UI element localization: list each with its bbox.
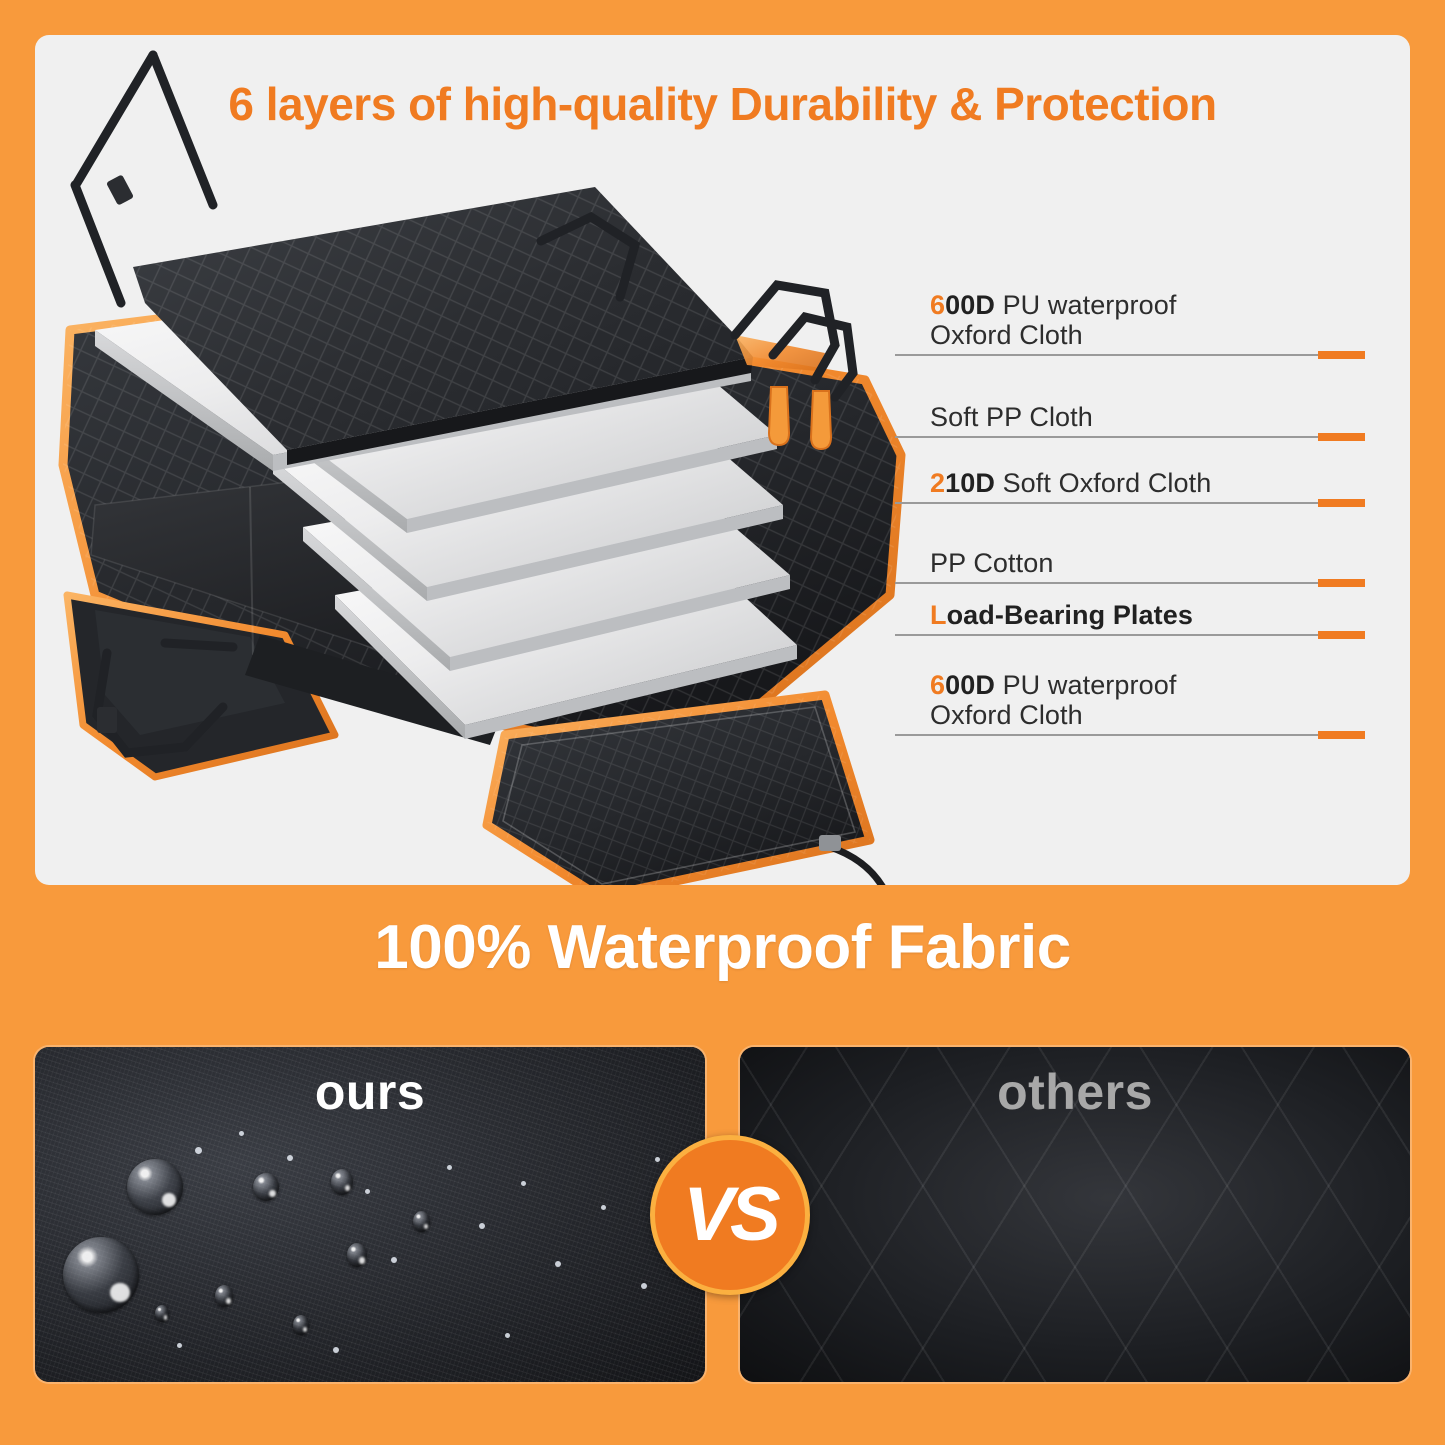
layer-label-text-4: PP Cotton: [930, 548, 1053, 578]
water-droplet: [253, 1173, 279, 1201]
layer-label-text-2: Soft PP Cloth: [930, 402, 1093, 432]
comparison-panel-ours: ours: [35, 1047, 705, 1382]
panel-caption-ours: ours: [35, 1063, 705, 1121]
water-speck: [177, 1343, 182, 1348]
water-droplet: [127, 1159, 183, 1215]
water-speck: [641, 1283, 647, 1289]
layer-label-row: 600D PU waterproof Oxford Cloth: [895, 260, 1395, 356]
vs-badge-label: VS: [655, 1140, 805, 1290]
panel-caption-others: others: [740, 1063, 1410, 1121]
water-speck: [239, 1131, 244, 1136]
hero-panel: 6 layers of high-quality Durability & Pr…: [35, 35, 1410, 885]
layer-label-row: Load-Bearing Plates: [895, 584, 1395, 636]
water-speck: [333, 1347, 339, 1353]
layer-label-row: Soft PP Cloth: [895, 356, 1395, 438]
layer-label-text-5: Load-Bearing Plates: [930, 600, 1193, 630]
water-speck: [391, 1257, 397, 1263]
water-droplet: [155, 1305, 169, 1322]
water-speck: [479, 1223, 485, 1229]
product-illustration: [35, 35, 935, 885]
leader-tip-6: [1318, 731, 1365, 739]
layer-label-row: 600D PU waterproof Oxford Cloth: [895, 636, 1395, 736]
layer-label-row: 210D Soft Oxford Cloth: [895, 438, 1395, 504]
water-droplet: [215, 1285, 233, 1307]
water-speck: [601, 1205, 606, 1210]
water-droplet: [331, 1169, 353, 1195]
water-droplet: [347, 1243, 367, 1267]
product-exploded-view-svg: [35, 35, 935, 885]
water-speck: [365, 1189, 370, 1194]
water-speck: [447, 1165, 452, 1170]
water-droplet: [63, 1237, 139, 1313]
waterproof-headline: 100% Waterproof Fabric: [0, 912, 1445, 983]
water-speck: [555, 1261, 561, 1267]
layer-label-text-3: 210D Soft Oxford Cloth: [930, 468, 1211, 498]
water-droplet: [293, 1315, 309, 1335]
layer-label-text-6: 600D PU waterproof Oxford Cloth: [930, 670, 1176, 730]
water-speck: [505, 1333, 510, 1338]
vs-badge: VS: [650, 1135, 810, 1295]
water-speck: [521, 1181, 526, 1186]
leader-line-6: [895, 734, 1318, 736]
layer-label-row: PP Cotton: [895, 504, 1395, 584]
layer-label-column: 600D PU waterproof Oxford Cloth Soft PP …: [895, 260, 1395, 740]
water-speck: [287, 1155, 293, 1161]
water-speck: [195, 1147, 202, 1154]
layer-label-text-1: 600D PU waterproof Oxford Cloth: [930, 290, 1176, 350]
zipper-cord: [830, 847, 887, 885]
water-droplet: [413, 1211, 430, 1232]
zipper-slider: [819, 835, 841, 851]
comparison-panel-others: others: [740, 1047, 1410, 1382]
